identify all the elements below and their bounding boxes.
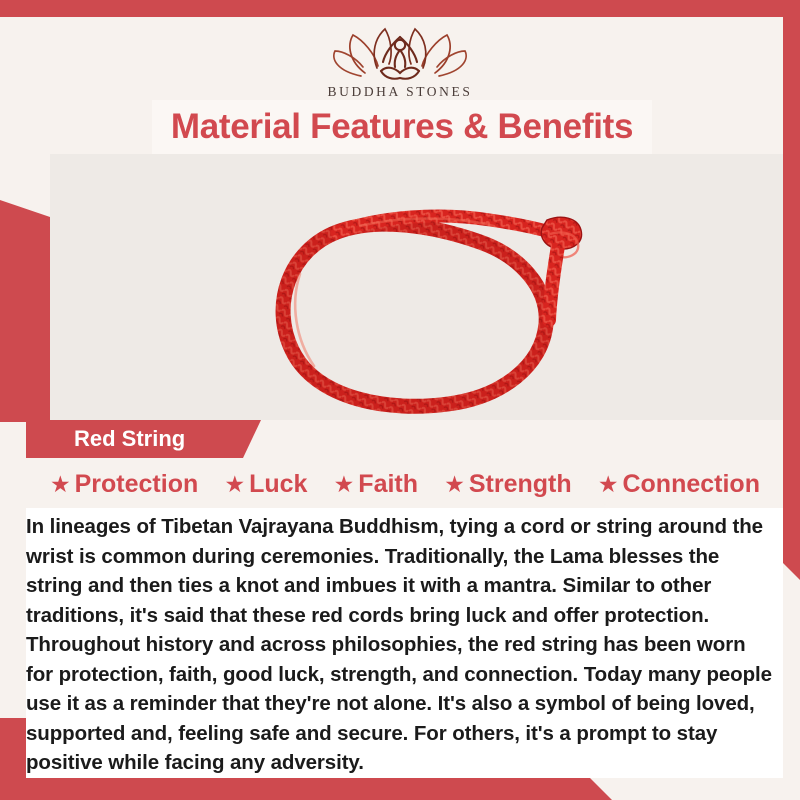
benefit-item: ★ Luck <box>224 470 307 499</box>
frame-bottom-left-stub <box>0 718 26 778</box>
brand-header: BUDDHA STONES <box>0 17 800 100</box>
star-icon: ★ <box>50 473 71 496</box>
brand-logo: BUDDHA STONES <box>325 17 475 100</box>
benefit-item: ★ Strength <box>444 470 571 499</box>
product-info-poster: BUDDHA STONES Material Features & Benefi… <box>0 0 800 800</box>
benefit-label: Connection <box>622 470 760 499</box>
star-icon: ★ <box>444 473 465 496</box>
benefit-item: ★ Faith <box>334 470 418 499</box>
frame-left-accent-bar <box>0 200 50 422</box>
product-name-ribbon: Red String <box>26 420 261 458</box>
benefit-item: ★ Connection <box>598 470 760 499</box>
star-icon: ★ <box>334 473 355 496</box>
benefit-label: Luck <box>249 470 307 499</box>
benefit-item: ★ Protection <box>50 470 198 499</box>
description-text: In lineages of Tibetan Vajrayana Buddhis… <box>26 512 774 778</box>
benefit-label: Protection <box>75 470 199 499</box>
frame-bottom-bar <box>0 778 612 800</box>
frame-top-bar <box>0 0 800 17</box>
lotus-meditation-icon <box>325 21 475 83</box>
product-name: Red String <box>74 426 185 452</box>
benefits-list: ★ Protection ★ Luck ★ Faith ★ Strength ★… <box>50 462 760 506</box>
benefit-label: Faith <box>358 470 418 499</box>
title-band: Material Features & Benefits <box>152 100 652 154</box>
page-title: Material Features & Benefits <box>171 107 633 147</box>
frame-right-bar <box>783 17 800 580</box>
brand-name: BUDDHA STONES <box>328 84 473 100</box>
benefit-label: Strength <box>469 470 572 499</box>
star-icon: ★ <box>598 473 619 496</box>
product-photo <box>50 154 783 420</box>
star-icon: ★ <box>224 473 245 496</box>
